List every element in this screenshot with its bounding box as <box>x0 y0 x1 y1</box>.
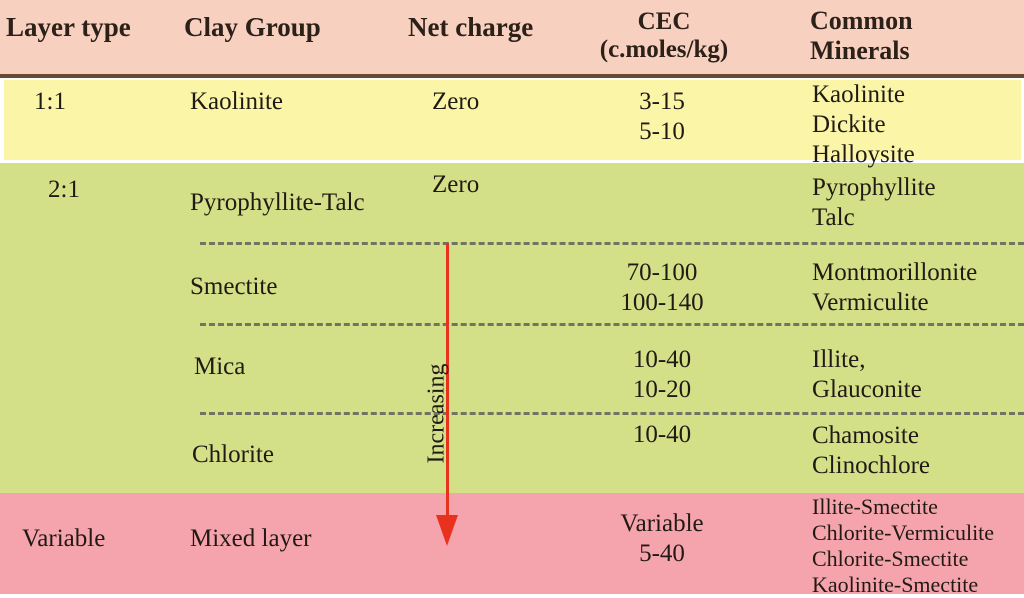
cell-layer-type-kaolinite: 1:1 <box>34 87 66 117</box>
cell-cec-smectite: 70-100 100-140 <box>592 258 732 318</box>
row-separator-1 <box>200 242 1024 245</box>
column-header-clay-group: Clay Group <box>184 12 321 42</box>
cell-layer-type-variable: Variable <box>22 524 105 554</box>
cell-net-charge-kaolinite: Zero <box>432 87 479 117</box>
row-separator-2 <box>200 323 1024 326</box>
column-header-cec: CEC (c.moles/kg) <box>578 8 750 64</box>
cell-minerals-kaolinite: Kaolinite Dickite Halloysite <box>812 80 915 170</box>
cell-clay-group-mica: Mica <box>194 352 245 382</box>
cell-minerals-smectite: Montmorillonite Vermiculite <box>812 258 977 318</box>
cell-clay-group-smectite: Smectite <box>190 272 277 302</box>
clay-mineral-table: Layer type Clay Group Net charge CEC (c.… <box>0 0 1024 594</box>
cell-clay-group-mixed-layer: Mixed layer <box>190 524 311 554</box>
cell-clay-group-chlorite: Chlorite <box>192 440 274 470</box>
cell-cec-mixed-layer: Variable 5-40 <box>592 509 732 569</box>
column-header-layer-type: Layer type <box>6 12 131 42</box>
cell-minerals-mixed-layer: Illite-Smectite Chlorite-Vermiculite Chl… <box>812 494 994 598</box>
cell-net-charge-pyrophyllite-talc: Zero <box>432 170 479 200</box>
cell-clay-group-kaolinite: Kaolinite <box>190 87 283 117</box>
cell-cec-mica: 10-40 10-20 <box>592 345 732 405</box>
column-header-net-charge: Net charge <box>408 12 533 42</box>
cell-cec-kaolinite: 3-15 5-10 <box>592 87 732 147</box>
cell-minerals-mica: Illite, Glauconite <box>812 345 922 405</box>
increasing-arrow-head-icon <box>436 515 458 546</box>
cell-cec-chlorite: 10-40 <box>592 420 732 450</box>
column-header-common-minerals: Common Minerals <box>810 6 913 66</box>
increasing-arrow-label: Increasing <box>424 334 451 494</box>
cell-layer-type-2-1: 2:1 <box>48 175 80 205</box>
row-separator-3 <box>200 412 1024 415</box>
cell-minerals-pyrophyllite-talc: Pyrophyllite Talc <box>812 173 936 233</box>
cell-clay-group-pyrophyllite-talc: Pyrophyllite-Talc <box>190 188 365 218</box>
cell-minerals-chlorite: Chamosite Clinochlore <box>812 421 930 481</box>
